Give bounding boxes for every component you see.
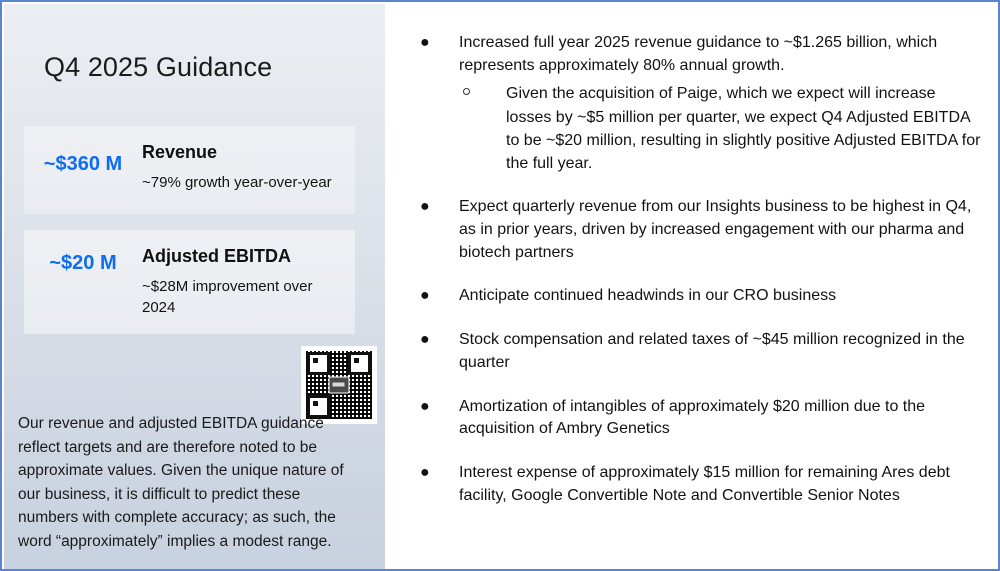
list-item-text: Increased full year 2025 revenue guidanc… [459, 34, 937, 74]
guidance-slide: Q4 2025 Guidance ~$360 M Revenue ~79% gr… [0, 0, 1000, 571]
qr-code-matrix [306, 351, 372, 419]
bullet-marker-icon: ● [420, 396, 430, 419]
metric-value-adjusted-ebitda: ~$20 M [24, 230, 142, 275]
bullet-marker-icon: ● [420, 285, 430, 308]
footnote-text: Our revenue and adjusted EBITDA guidance… [18, 412, 363, 553]
bullet-marker-icon: ● [420, 462, 430, 485]
metric-sub-adjusted-ebitda: ~$28M improvement over 2024 [142, 276, 347, 319]
page-title: Q4 2025 Guidance [44, 52, 272, 83]
metric-label-revenue: Revenue [142, 142, 347, 164]
bullet-marker-icon: ● [420, 32, 430, 55]
list-item-text: Anticipate continued headwinds in our CR… [459, 287, 836, 304]
list-item: ● Amortization of intangibles of approxi… [407, 396, 982, 441]
metric-card-revenue: ~$360 M Revenue ~79% growth year-over-ye… [24, 126, 355, 214]
metric-body-adjusted-ebitda: Adjusted EBITDA ~$28M improvement over 2… [142, 230, 355, 318]
list-item: ● Increased full year 2025 revenue guida… [407, 32, 982, 175]
metric-sub-revenue: ~79% growth year-over-year [142, 172, 347, 193]
list-item: ● Interest expense of approximately $15 … [407, 462, 982, 507]
sub-list-item-text: Given the acquisition of Paige, which we… [506, 85, 980, 172]
list-item-text: Expect quarterly revenue from our Insigh… [459, 198, 971, 260]
sub-bullet-marker-icon [463, 88, 470, 95]
metric-card-adjusted-ebitda: ~$20 M Adjusted EBITDA ~$28M improvement… [24, 230, 355, 334]
sub-list-item: Given the acquisition of Paige, which we… [459, 82, 982, 175]
sub-bullet-list: Given the acquisition of Paige, which we… [459, 82, 982, 175]
qr-finder-top-left-icon [307, 352, 330, 375]
left-panel: Q4 2025 Guidance ~$360 M Revenue ~79% gr… [4, 4, 385, 571]
metric-body-revenue: Revenue ~79% growth year-over-year [142, 126, 355, 193]
list-item-text: Amortization of intangibles of approxima… [459, 398, 925, 438]
list-item: ● Anticipate continued headwinds in our … [407, 285, 982, 308]
qr-finder-top-right-icon [348, 352, 371, 375]
list-item: ● Expect quarterly revenue from our Insi… [407, 196, 982, 264]
metric-value-revenue: ~$360 M [24, 126, 142, 176]
list-item-text: Interest expense of approximately $15 mi… [459, 464, 950, 504]
metric-label-adjusted-ebitda: Adjusted EBITDA [142, 246, 347, 268]
list-item: ● Stock compensation and related taxes o… [407, 329, 982, 374]
bullet-list: ● Increased full year 2025 revenue guida… [407, 32, 982, 507]
right-panel: ● Increased full year 2025 revenue guida… [385, 4, 996, 567]
bullet-marker-icon: ● [420, 329, 430, 352]
bullet-marker-icon: ● [420, 196, 430, 219]
qr-center-logo-icon [329, 377, 350, 394]
list-item-text: Stock compensation and related taxes of … [459, 331, 965, 371]
